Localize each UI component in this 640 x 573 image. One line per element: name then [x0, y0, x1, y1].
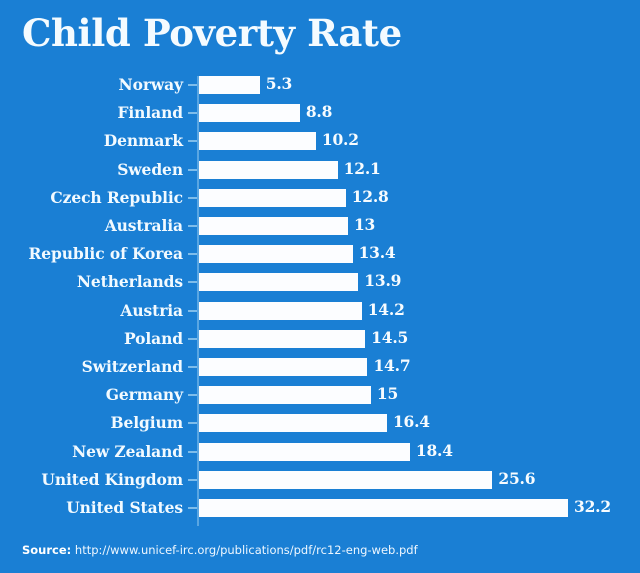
bar-value-label: 13.9	[364, 271, 401, 291]
bar-row: Austria14.2	[0, 299, 640, 327]
bar-track	[199, 217, 348, 235]
bar-value-label: 14.7	[373, 356, 410, 376]
axis-tick-icon	[188, 197, 197, 199]
bar-value-label: 14.2	[368, 300, 405, 320]
bar-category-label: Republic of Korea	[0, 242, 183, 266]
bar-track	[199, 104, 300, 122]
bar-category-label: Czech Republic	[0, 186, 183, 210]
bar-row: Norway5.3	[0, 73, 640, 101]
bar-category-label: Poland	[0, 327, 183, 351]
bar	[199, 330, 365, 348]
bar-row: Belgium16.4	[0, 411, 640, 439]
chart-title: Child Poverty Rate	[22, 11, 402, 56]
bar-row: Switzerland14.7	[0, 355, 640, 383]
child-poverty-rate-chart: Child Poverty Rate Norway5.3Finland8.8De…	[0, 0, 640, 573]
bar-row: Netherlands13.9	[0, 270, 640, 298]
bar-value-label: 10.2	[322, 130, 359, 150]
bar-track	[199, 471, 492, 489]
bar	[199, 76, 260, 94]
axis-tick-icon	[188, 169, 197, 171]
bar	[199, 471, 492, 489]
bar-row: Germany15	[0, 383, 640, 411]
bar-category-label: Austria	[0, 299, 183, 323]
bar-value-label: 25.6	[498, 469, 535, 489]
bar-track	[199, 132, 316, 150]
bar-track	[199, 386, 371, 404]
bar	[199, 161, 338, 179]
bar-track	[199, 499, 568, 517]
bar-value-label: 14.5	[371, 328, 408, 348]
axis-tick-icon	[188, 112, 197, 114]
bar	[199, 273, 358, 291]
axis-tick-icon	[188, 394, 197, 396]
bar	[199, 189, 346, 207]
bar	[199, 443, 410, 461]
bar-track	[199, 76, 260, 94]
bar-category-label: Norway	[0, 73, 183, 97]
bar-track	[199, 302, 362, 320]
axis-tick-icon	[188, 84, 197, 86]
bar-row: New Zealand18.4	[0, 440, 640, 468]
bar	[199, 245, 353, 263]
bar	[199, 217, 348, 235]
source-url: http://www.unicef-irc.org/publications/p…	[71, 543, 417, 557]
bar	[199, 132, 316, 150]
bar-category-label: Australia	[0, 214, 183, 238]
bar-row: Finland8.8	[0, 101, 640, 129]
bar-row: Republic of Korea13.4	[0, 242, 640, 270]
axis-tick-icon	[188, 338, 197, 340]
bar-track	[199, 189, 346, 207]
axis-tick-icon	[188, 281, 197, 283]
bar-category-label: Denmark	[0, 129, 183, 153]
bar	[199, 104, 300, 122]
bar-category-label: Finland	[0, 101, 183, 125]
bar-value-label: 32.2	[574, 497, 611, 517]
bar-row: Czech Republic12.8	[0, 186, 640, 214]
bar-row: Sweden12.1	[0, 158, 640, 186]
axis-tick-icon	[188, 507, 197, 509]
source-note: Source: http://www.unicef-irc.org/public…	[22, 542, 418, 558]
bar-row: Poland14.5	[0, 327, 640, 355]
bar-value-label: 13	[354, 215, 375, 235]
bar-track	[199, 414, 387, 432]
bar-category-label: United States	[0, 496, 183, 520]
bar-category-label: Belgium	[0, 411, 183, 435]
bar-category-label: New Zealand	[0, 440, 183, 464]
source-label: Source:	[22, 543, 71, 557]
bar-track	[199, 358, 367, 376]
bar	[199, 302, 362, 320]
axis-tick-icon	[188, 225, 197, 227]
axis-tick-icon	[188, 451, 197, 453]
bar-category-label: Sweden	[0, 158, 183, 182]
bar	[199, 358, 367, 376]
bar-track	[199, 273, 358, 291]
bar-value-label: 12.8	[352, 187, 389, 207]
bar-row: Australia13	[0, 214, 640, 242]
axis-tick-icon	[188, 479, 197, 481]
bar-category-label: Netherlands	[0, 270, 183, 294]
bar	[199, 414, 387, 432]
bar-row: Denmark10.2	[0, 129, 640, 157]
bar-value-label: 13.4	[359, 243, 396, 263]
bar-category-label: Switzerland	[0, 355, 183, 379]
bar-row: United Kingdom25.6	[0, 468, 640, 496]
bar-value-label: 12.1	[344, 159, 381, 179]
axis-tick-icon	[188, 366, 197, 368]
axis-tick-icon	[188, 253, 197, 255]
bar-value-label: 16.4	[393, 412, 430, 432]
bar-value-label: 15	[377, 384, 398, 404]
bar-category-label: United Kingdom	[0, 468, 183, 492]
bar-value-label: 8.8	[306, 102, 332, 122]
bar	[199, 499, 568, 517]
bar-value-label: 5.3	[266, 74, 292, 94]
bar-track	[199, 443, 410, 461]
axis-tick-icon	[188, 140, 197, 142]
bar-track	[199, 330, 365, 348]
bar-value-label: 18.4	[416, 441, 453, 461]
bar-track	[199, 245, 353, 263]
bar	[199, 386, 371, 404]
plot-area: Norway5.3Finland8.8Denmark10.2Sweden12.1…	[0, 73, 640, 528]
bar-row: United States32.2	[0, 496, 640, 524]
axis-tick-icon	[188, 422, 197, 424]
bar-track	[199, 161, 338, 179]
axis-tick-icon	[188, 310, 197, 312]
bar-category-label: Germany	[0, 383, 183, 407]
